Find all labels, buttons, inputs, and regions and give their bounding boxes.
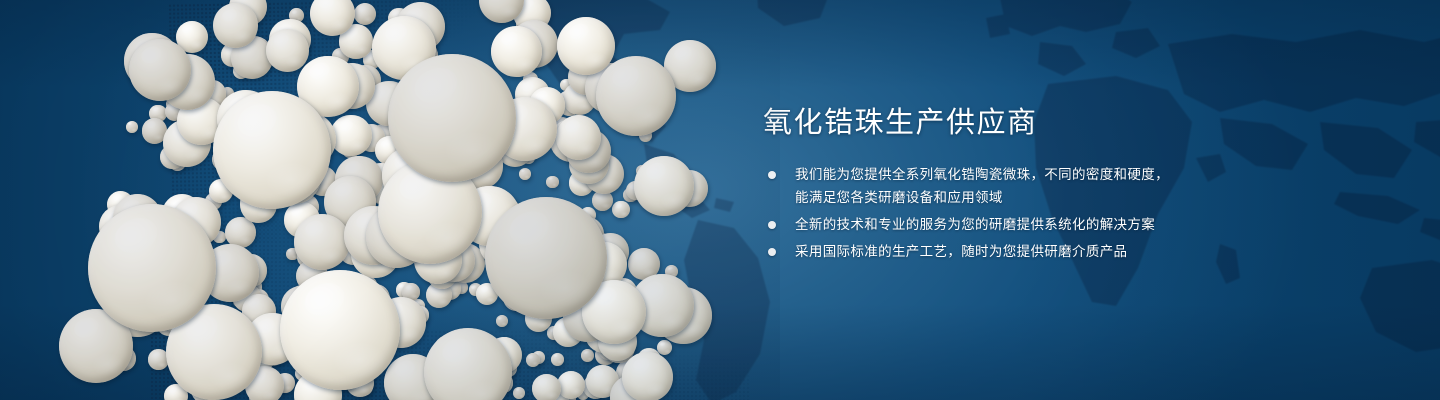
banner-bullet-item-3: 采用国际标准的生产工艺，随时为您提供研磨介质产品 [763,240,1233,263]
banner-text-panel: 氧化锆珠生产供应商 我们能为您提供全系列氧化锆陶瓷微珠，不同的密度和硬度， 能满… [763,104,1233,263]
bullet-text-line-1: 我们能为您提供全系列氧化锆陶瓷微珠，不同的密度和硬度， [795,167,1169,182]
bullet-text-line-2: 能满足您各类研磨设备和应用领域 [795,186,1233,209]
banner-headline: 氧化锆珠生产供应商 [763,104,1233,142]
bullet-dot-icon [768,248,776,256]
product-hero-banner: 氧化锆珠生产供应商 我们能为您提供全系列氧化锆陶瓷微珠，不同的密度和硬度， 能满… [0,0,1440,400]
bullet-text-line-1: 全新的技术和专业的服务为您的研磨提供系统化的解决方案 [795,217,1155,232]
banner-bullet-item-1: 我们能为您提供全系列氧化锆陶瓷微珠，不同的密度和硬度， 能满足您各类研磨设备和应… [763,163,1233,209]
banner-bullet-item-2: 全新的技术和专业的服务为您的研磨提供系统化的解决方案 [763,213,1233,236]
banner-bullet-list: 我们能为您提供全系列氧化锆陶瓷微珠，不同的密度和硬度， 能满足您各类研磨设备和应… [763,163,1233,263]
bullet-dot-icon [768,171,776,179]
bullet-text-line-1: 采用国际标准的生产工艺，随时为您提供研磨介质产品 [795,244,1127,259]
bullet-dot-icon [768,221,776,229]
